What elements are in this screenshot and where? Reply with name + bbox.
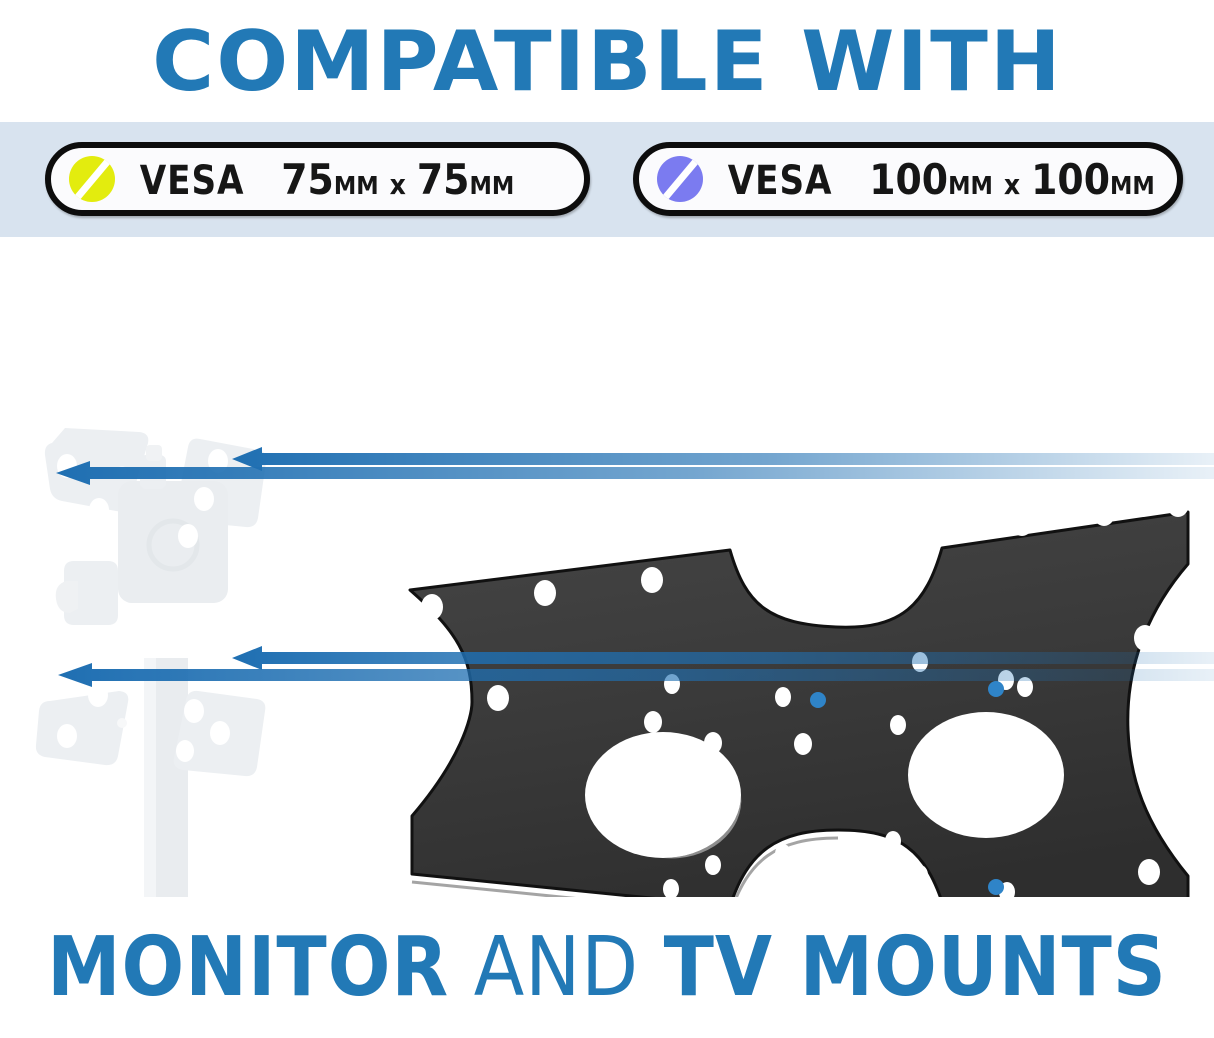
vesa-separator-2: x: [1004, 168, 1020, 201]
vesa-adapter-plate-compatibility-diagram: [0, 237, 1214, 897]
page-title: COMPATIBLE WITH: [152, 20, 1063, 103]
footer-banner: MONITOR AND TV MOUNTS: [0, 897, 1214, 1038]
header-banner: COMPATIBLE WITH: [0, 0, 1214, 122]
vesa-purple-dot-icon: [657, 156, 703, 202]
vesa-height-value-2: 100: [1031, 155, 1110, 204]
vesa-height-unit-2: MM: [1110, 171, 1155, 200]
vesa-badge-band: VESA 75 MM x 75 MM VESA 100 MM x 100 MM: [0, 122, 1214, 237]
vesa-width-value-2: 100: [869, 155, 948, 204]
footer-text-monitor: MONITOR: [47, 920, 449, 1015]
vesa-badge-100-label: VESA 100 MM x 100 MM: [725, 155, 1155, 204]
vesa-badge-75-label: VESA 75 MM x 75 MM: [137, 155, 514, 204]
vesa-badge-75: VESA 75 MM x 75 MM: [45, 142, 590, 216]
vesa-width-value-1: 75: [281, 155, 334, 204]
vesa-separator-1: x: [390, 168, 406, 201]
vesa-yellow-dot-icon: [69, 156, 115, 202]
vesa-width-unit-1: MM: [334, 171, 379, 200]
vesa-height-value-1: 75: [417, 155, 470, 204]
monitor-mount-ghost-outline: [36, 428, 266, 897]
footer-text-and: AND: [474, 920, 639, 1015]
vesa-standard-label-2: VESA: [728, 158, 833, 204]
footer-title: MONITOR AND TV MOUNTS: [47, 927, 1167, 1009]
vesa-adapter-bracket-plate: [410, 491, 1189, 897]
vesa-height-unit-1: MM: [469, 171, 514, 200]
footer-text-tv-mounts: TV MOUNTS: [664, 920, 1167, 1015]
vesa-badge-100: VESA 100 MM x 100 MM: [633, 142, 1183, 216]
vesa-standard-label-1: VESA: [140, 158, 245, 204]
vesa-width-unit-2: MM: [948, 171, 993, 200]
